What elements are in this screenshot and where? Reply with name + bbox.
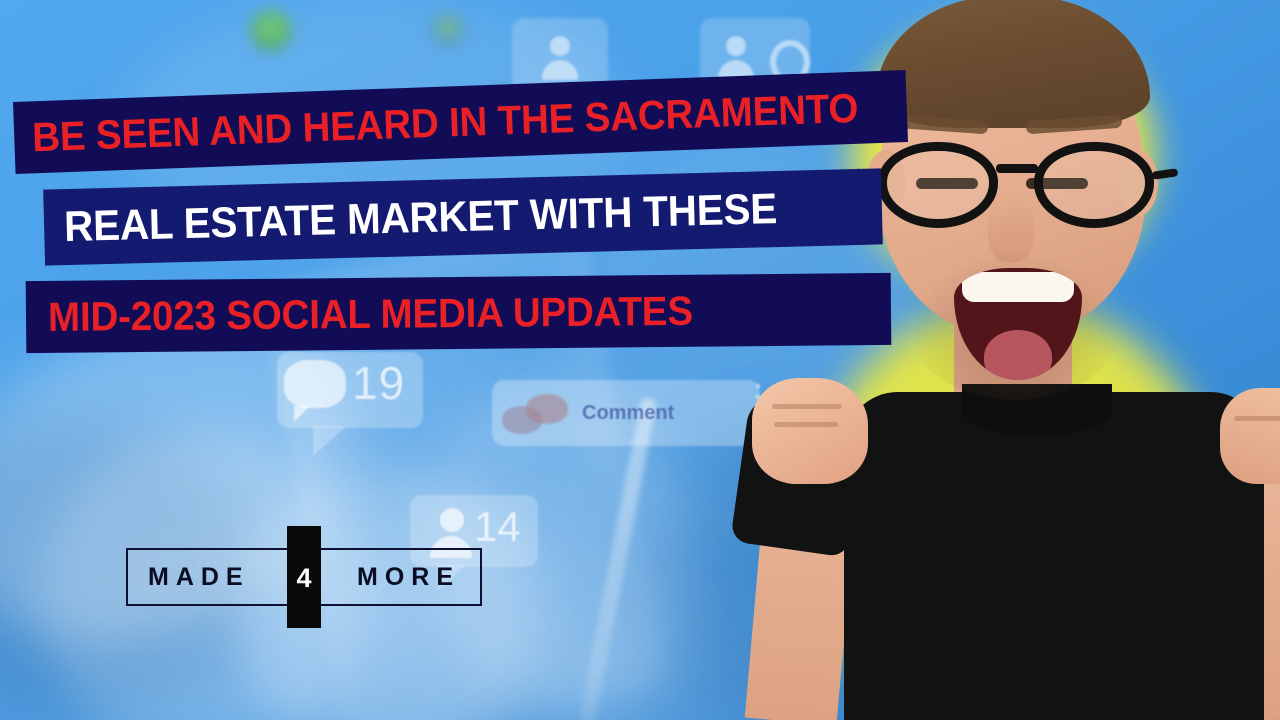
person-icon	[540, 36, 580, 80]
logo-word-right: MORE	[357, 563, 460, 592]
glasses-icon	[876, 136, 1156, 232]
logo-numeral: 4	[296, 563, 311, 594]
emoji-icon	[250, 10, 292, 52]
emoji-icon	[430, 12, 466, 48]
headline-line-1: BE SEEN AND HEARD IN THE SACRAMENTO	[32, 87, 859, 158]
teeth	[962, 272, 1074, 302]
comment-bubbles-icon	[502, 392, 570, 434]
headline-bar-3: MID-2023 SOCIAL MEDIA UPDATES	[26, 273, 892, 353]
thumbnail-canvas: 19 Comment 14 ew Mess	[0, 0, 1280, 720]
headline-line-3: MID-2023 SOCIAL MEDIA UPDATES	[48, 290, 693, 337]
left-fist	[752, 378, 868, 484]
comment-button-label: Comment	[582, 402, 674, 425]
comment-count-badge: 19	[352, 356, 405, 410]
right-fist	[1220, 388, 1280, 484]
logo-word-left: MADE	[148, 563, 250, 592]
tongue	[984, 330, 1052, 380]
speech-bubble-icon	[284, 360, 346, 408]
headline-line-2: REAL ESTATE MARKET WITH THESE	[64, 188, 778, 249]
brand-logo: MADE MORE 4	[126, 548, 482, 606]
black-tshirt	[844, 392, 1264, 720]
logo-numeral-block: 4	[287, 526, 321, 628]
follower-count-badge: 14	[474, 503, 521, 551]
hair	[876, 0, 1150, 128]
